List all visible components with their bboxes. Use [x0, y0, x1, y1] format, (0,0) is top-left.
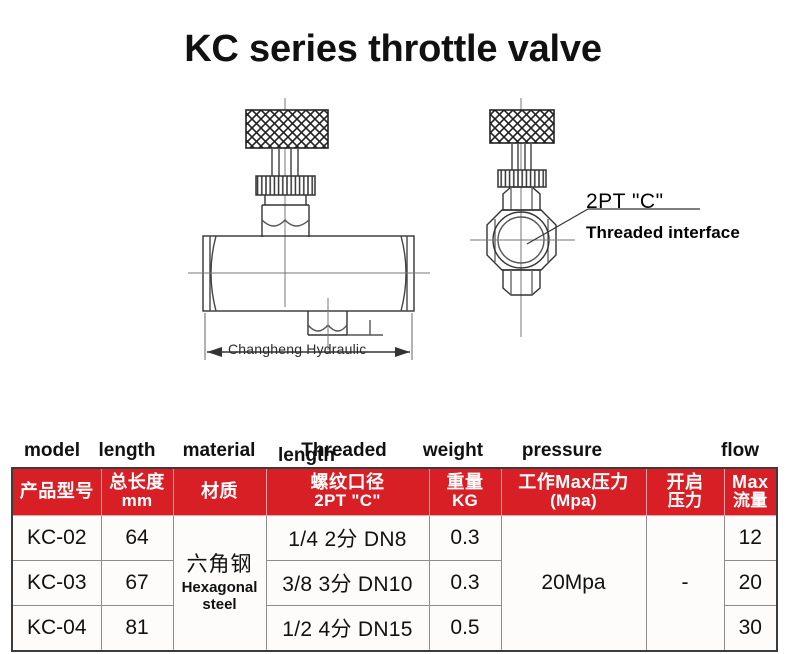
header-cn: Max [725, 473, 777, 492]
technical-drawings: Changheng Hydraulic length [0, 92, 786, 402]
cell-thread: 3/8 3分 DN10 [266, 561, 429, 606]
header-cn: 总长度 [102, 473, 173, 492]
cell-model: KC-04 [12, 606, 101, 651]
material-cn: 六角钢 [174, 553, 266, 577]
header-cn: 开启 [647, 473, 724, 492]
cell-model: KC-02 [12, 516, 101, 561]
header-cn: 材质 [174, 482, 266, 501]
valve-side-view [188, 98, 430, 360]
cell-thread: 1/2 4分 DN15 [266, 606, 429, 651]
header-cell-4: 重量KG [429, 468, 501, 516]
cell-flow: 12 [724, 516, 777, 561]
cell-material: 六角钢Hexagonal steel [173, 516, 266, 651]
table-row: KC-0264六角钢Hexagonal steel1/4 2分 DN80.320… [12, 516, 777, 561]
cell-model: KC-03 [12, 561, 101, 606]
cell-weight: 0.3 [429, 561, 501, 606]
thread-annotation-label: Threaded interface [586, 223, 740, 243]
header-cell-3: 螺纹口径2PT "C" [266, 468, 429, 516]
cell-pressure: 20Mpa [501, 516, 646, 651]
header-sub: (Mpa) [502, 492, 646, 510]
header-sub: 压力 [647, 492, 724, 510]
cell-weight: 0.3 [429, 516, 501, 561]
cell-open-pressure: - [646, 516, 724, 651]
specification-table: 产品型号总长度mm材质螺纹口径2PT "C"重量KG工作Max压力(Mpa)开启… [11, 467, 778, 652]
page-title: KC series throttle valve [0, 28, 786, 71]
english-label-weight: weight [393, 440, 513, 462]
cell-thread: 1/4 2分 DN8 [266, 516, 429, 561]
table-header-row: 产品型号总长度mm材质螺纹口径2PT "C"重量KG工作Max压力(Mpa)开启… [12, 468, 777, 516]
cell-flow: 30 [724, 606, 777, 651]
product-spec-page: KC series throttle valve [0, 0, 786, 654]
header-sub: mm [102, 492, 173, 510]
header-cn: 螺纹口径 [267, 473, 429, 492]
english-column-labels: modellengthmaterialThreadedweightpressur… [11, 440, 776, 467]
english-label-flow: flow [680, 440, 786, 462]
valve-body-engraving: Changheng Hydraulic [228, 341, 366, 357]
cell-flow: 20 [724, 561, 777, 606]
cell-length: 67 [101, 561, 173, 606]
header-cell-1: 总长度mm [101, 468, 173, 516]
header-cn: 产品型号 [13, 482, 101, 501]
header-cn: 重量 [430, 473, 501, 492]
english-label-threaded: Threaded [284, 440, 404, 462]
specification-table-wrapper: modellengthmaterialThreadedweightpressur… [11, 440, 776, 652]
header-sub: 流量 [725, 492, 777, 510]
cell-length: 64 [101, 516, 173, 561]
cell-length: 81 [101, 606, 173, 651]
material-en: Hexagonal steel [174, 579, 266, 614]
thread-annotation-spec: 2PT "C" [586, 190, 664, 214]
english-label-material: material [159, 440, 279, 462]
header-sub: 2PT "C" [267, 492, 429, 510]
cell-weight: 0.5 [429, 606, 501, 651]
header-cell-6: 开启压力 [646, 468, 724, 516]
valve-end-view [470, 98, 700, 337]
valve-drawing-svg [0, 92, 786, 402]
header-cell-0: 产品型号 [12, 468, 101, 516]
english-label-pressure: pressure [502, 440, 622, 462]
header-sub: KG [430, 492, 501, 510]
header-cell-5: 工作Max压力(Mpa) [501, 468, 646, 516]
header-cell-2: 材质 [173, 468, 266, 516]
header-cn: 工作Max压力 [502, 473, 646, 492]
header-cell-7: Max流量 [724, 468, 777, 516]
